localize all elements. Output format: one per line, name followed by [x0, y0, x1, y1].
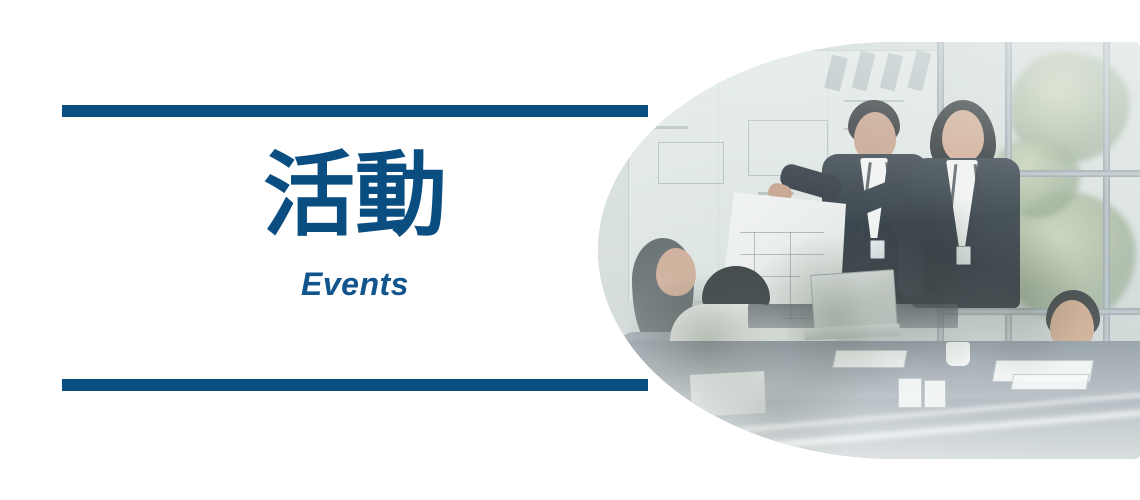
top-rule [62, 105, 648, 117]
heading-block: 活動 Events [62, 150, 648, 300]
glass-haze [598, 42, 1140, 459]
page-title: 活動 [62, 150, 648, 242]
page-subtitle: Events [62, 268, 648, 300]
bottom-rule [62, 379, 648, 391]
events-banner: 活動 Events [0, 0, 1140, 500]
photo-canvas [598, 42, 1140, 459]
hero-photo [598, 42, 1140, 459]
